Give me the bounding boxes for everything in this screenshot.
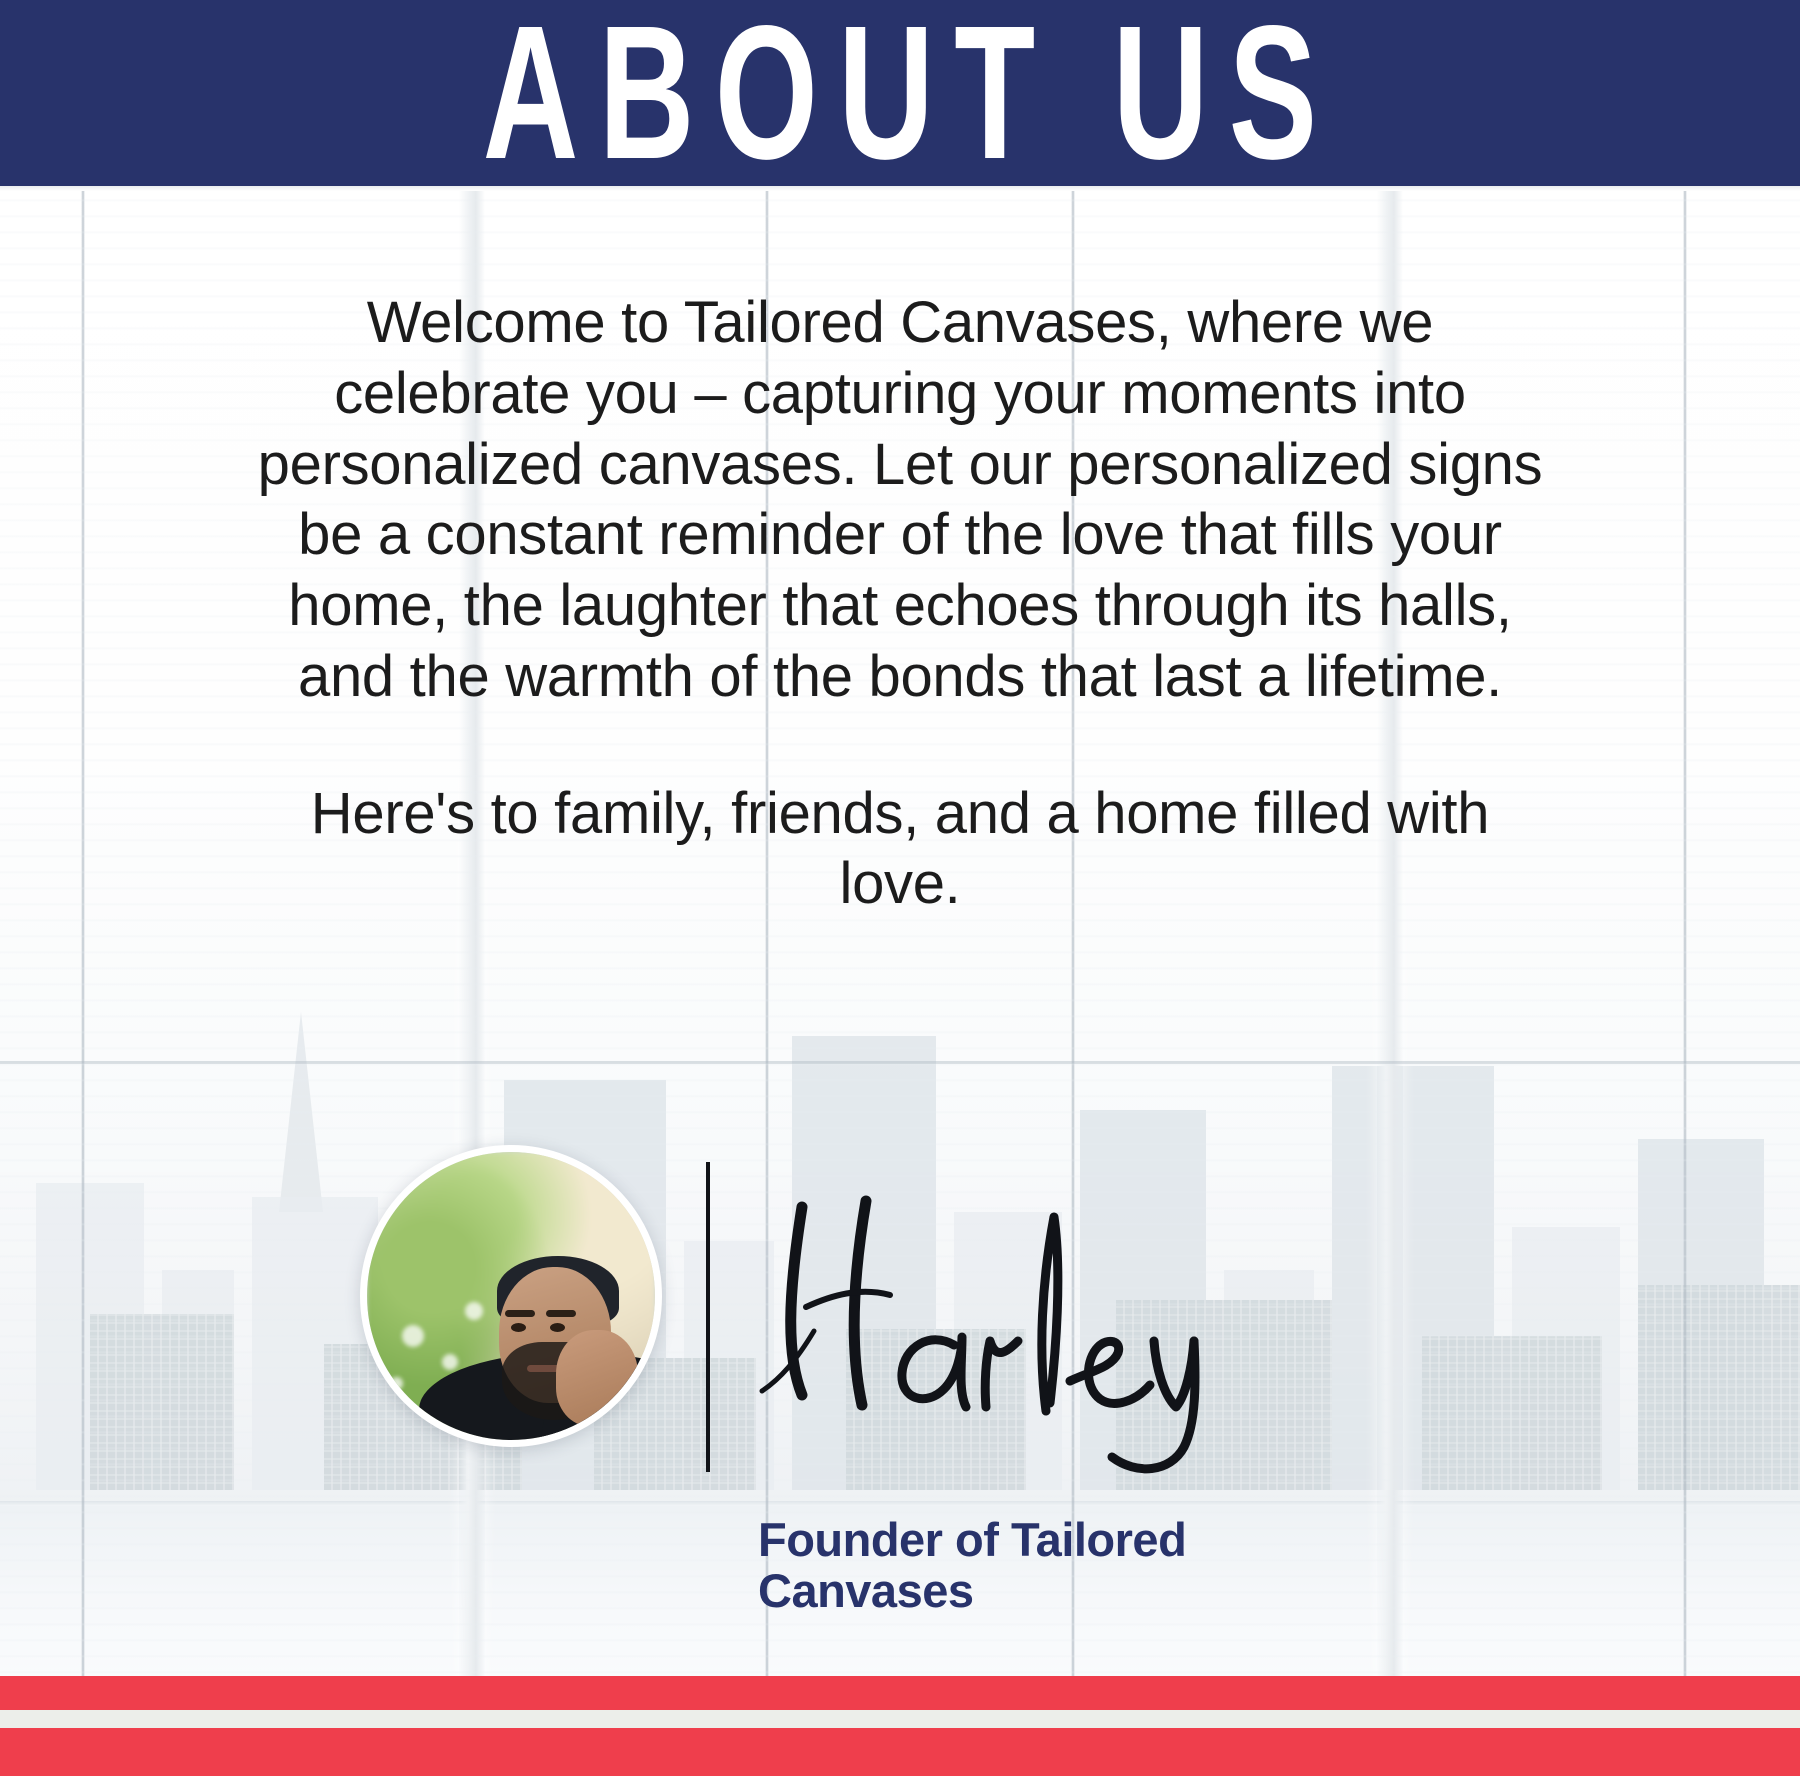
about-paragraph-2: Here's to family, friends, and a home fi… bbox=[255, 779, 1545, 921]
founder-photo bbox=[367, 1152, 655, 1440]
founder-role: Founder of Tailored Canvases bbox=[758, 1515, 1318, 1617]
footer-accent-bar-top bbox=[0, 1676, 1800, 1710]
founder-role-line-2: Canvases bbox=[758, 1564, 974, 1617]
signature-divider bbox=[706, 1162, 710, 1472]
founder-role-line-1: Founder of Tailored bbox=[758, 1513, 1186, 1566]
header-banner: ABOUT US bbox=[0, 0, 1800, 186]
footer-gap-bar bbox=[0, 1710, 1800, 1728]
about-us-card: ABOUT US Welcome to Tailored Canvases, w… bbox=[0, 0, 1800, 1776]
footer-accent-bar-bottom bbox=[0, 1728, 1800, 1776]
header-underline bbox=[0, 186, 1800, 191]
about-us-copy: Welcome to Tailored Canvases, where we c… bbox=[255, 288, 1545, 920]
page-title: ABOUT US bbox=[463, 0, 1338, 188]
about-paragraph-1: Welcome to Tailored Canvases, where we c… bbox=[255, 288, 1545, 713]
avatar bbox=[360, 1145, 662, 1447]
signature-harley bbox=[740, 1155, 1260, 1455]
